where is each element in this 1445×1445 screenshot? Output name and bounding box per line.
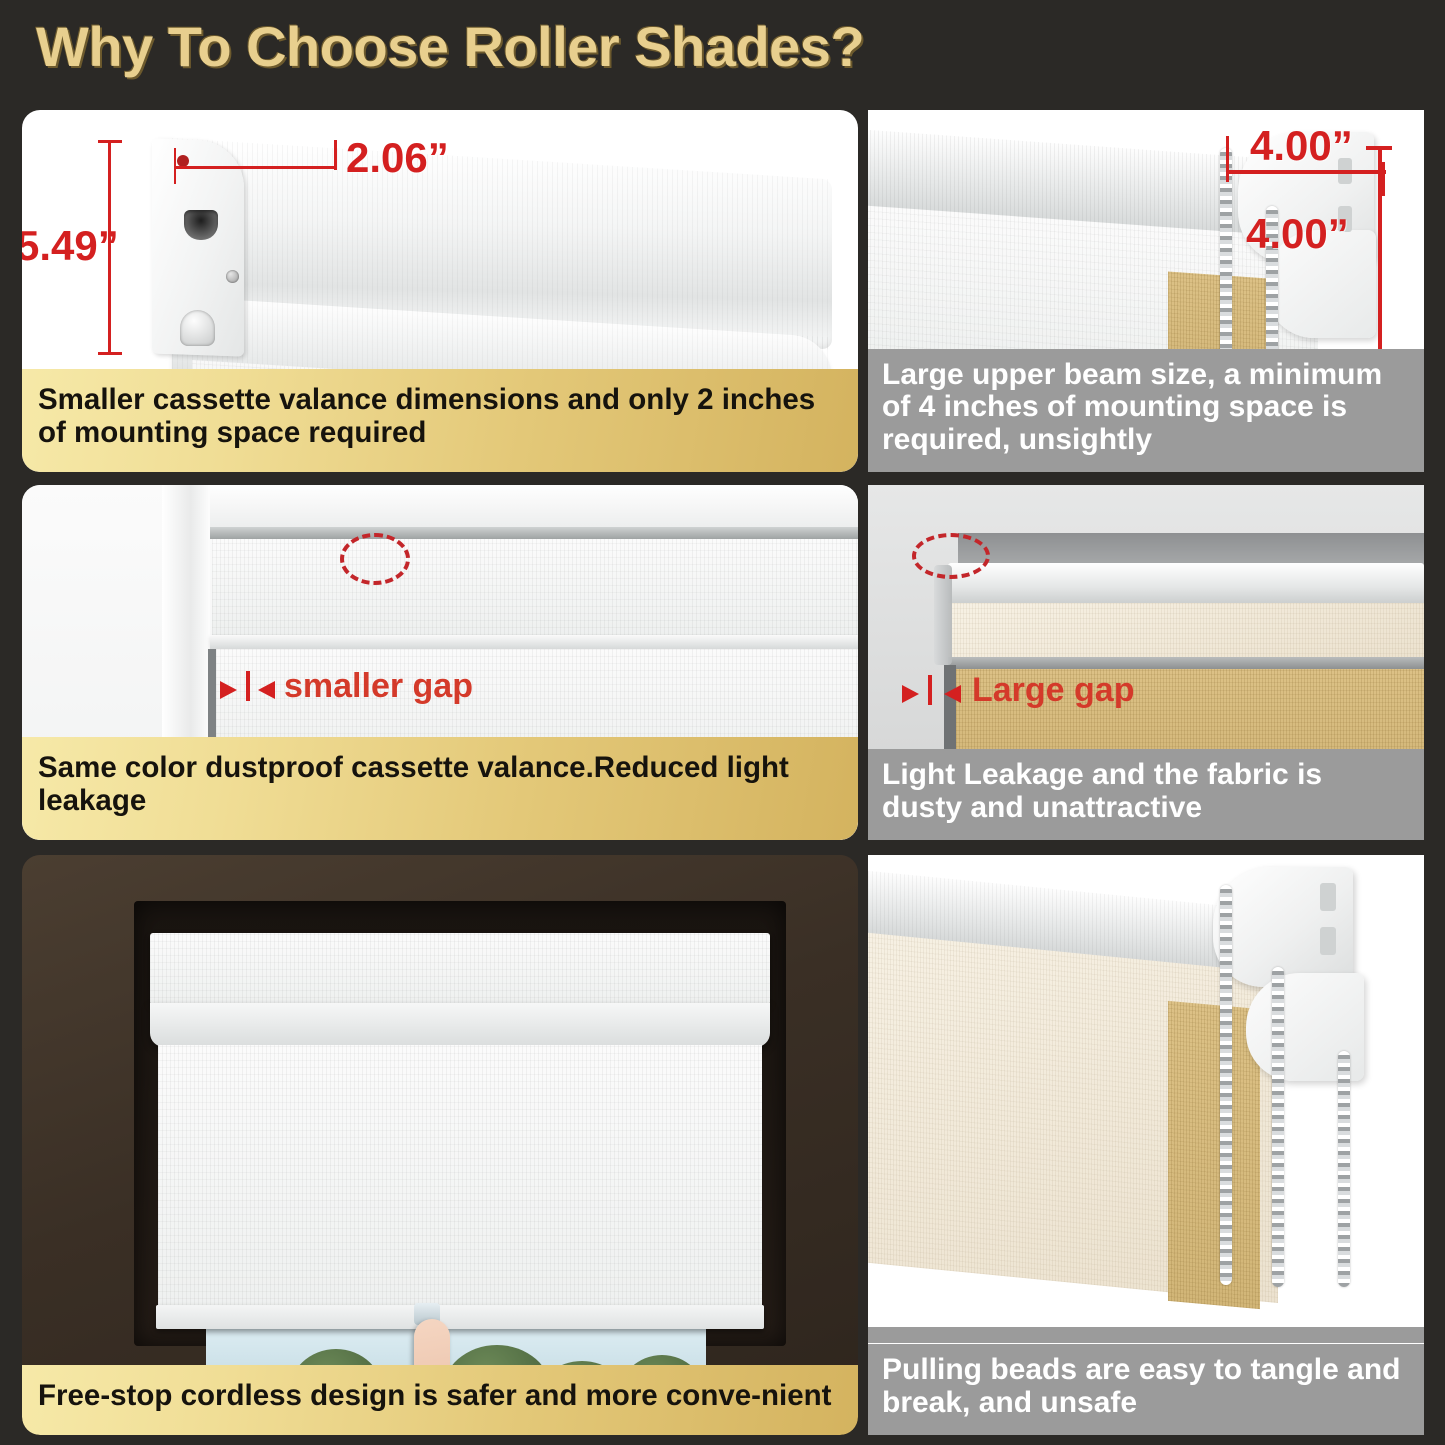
bead-chain [1272, 967, 1284, 1287]
arrow-left-icon [258, 681, 275, 699]
bead-chain [1220, 885, 1232, 1285]
cassette-bracket-hole [184, 210, 218, 240]
panel-pro-cassette-dimensions: 2.06” 5.49” Smaller cassette valance dim… [22, 110, 858, 472]
adjuster-knob [180, 310, 215, 346]
dimension-label-height: 5.49” [22, 222, 119, 270]
dimension-label-beam-width: 4.00” [1250, 122, 1353, 170]
caption-pro-cordless-design: Free-stop cordless design is safer and m… [22, 1365, 858, 1435]
caption-con-pull-beads: Pulling beads are easy to tangle and bre… [868, 1344, 1424, 1435]
caption-con-light-leakage: Light Leakage and the fabric is dusty an… [868, 749, 1424, 840]
dimension-label-beam-height: 4.00” [1246, 210, 1349, 258]
highlight-circle-icon [912, 533, 990, 579]
panel-pro-cordless-design: Free-stop cordless design is safer and m… [22, 855, 858, 1435]
gap-callout-label: Large gap [972, 671, 1134, 710]
panel-con-pull-beads: Pulling beads are easy to tangle and bre… [868, 855, 1424, 1435]
caption-pro-smaller-gap: Same color dustproof cassette valance.Re… [22, 737, 858, 840]
panel-pro-smaller-gap: smaller gap Same color dustproof cassett… [22, 485, 858, 840]
comparison-grid: 2.06” 5.49” Smaller cassette valance dim… [0, 100, 1445, 1445]
caption-con-large-beam: Large upper beam size, a minimum of 4 in… [868, 349, 1424, 472]
arrow-right-icon [902, 685, 919, 703]
highlight-circle-icon [340, 533, 410, 585]
screw-icon [226, 270, 239, 283]
caption-pro-cassette-dimensions: Smaller cassette valance dimensions and … [22, 369, 858, 472]
panel-con-light-leakage: Large gap Light Leakage and the fabric i… [868, 485, 1424, 840]
room-window-cordless-photo [22, 855, 858, 1435]
gap-callout-label: smaller gap [284, 667, 473, 706]
arrow-left-icon [944, 685, 961, 703]
page-title: Why To Choose Roller Shades? [36, 14, 1136, 86]
panel-con-large-beam: 4.00” 4.00” Large upper beam size, a min… [868, 110, 1424, 472]
bead-chain [1338, 1051, 1350, 1287]
arrow-right-icon [220, 681, 237, 699]
dimension-label-width: 2.06” [346, 134, 449, 182]
